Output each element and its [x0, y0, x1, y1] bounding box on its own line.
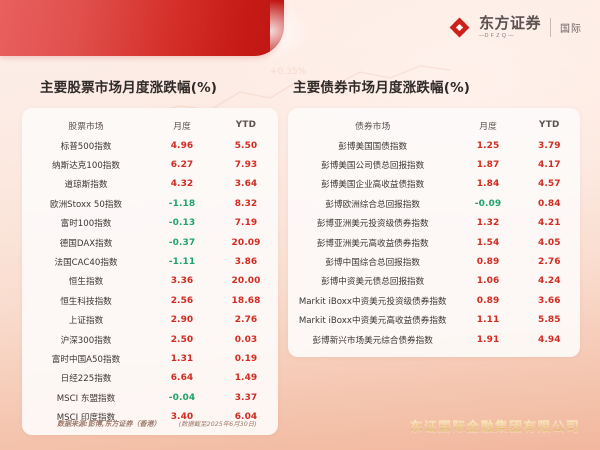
equity-monthly-value: -0.37	[150, 233, 214, 252]
bond-ytd-value: 4.57	[519, 175, 580, 194]
equity-monthly-value: 1.31	[150, 349, 214, 368]
bond-header-row: 债券市场 月度 YTD	[288, 114, 580, 136]
table-row: 标普500指数4.965.50	[22, 136, 278, 155]
equity-table: 股票市场 月度 YTD 标普500指数4.965.50纳斯达克100指数6.27…	[22, 114, 278, 427]
bond-market-name: 彭博欧洲综合总回报指数	[288, 194, 457, 213]
equity-market-name: 上证指数	[22, 311, 150, 330]
equity-monthly-value: 4.32	[150, 175, 214, 194]
equity-monthly-value: 2.90	[150, 311, 214, 330]
bond-monthly-value: 1.91	[457, 330, 518, 349]
table-row: 恒生科技指数2.5618.68	[22, 291, 278, 310]
equity-monthly-value: 6.27	[150, 155, 214, 174]
bond-ytd-value: 3.79	[519, 136, 580, 155]
bond-monthly-value: 1.54	[457, 233, 518, 252]
data-asof-text: (数据截至2025年6月30日)	[178, 419, 256, 428]
table-row: 彭博新兴市场美元综合债券指数1.914.94	[288, 330, 580, 349]
equity-table-card: 股票市场 月度 YTD 标普500指数4.965.50纳斯达克100指数6.27…	[22, 108, 278, 435]
equity-table-body: 标普500指数4.965.50纳斯达克100指数6.277.93道琼斯指数4.3…	[22, 136, 278, 427]
equity-monthly-value: -0.04	[150, 388, 214, 407]
equity-market-name: MSCI 东盟指数	[22, 388, 150, 407]
equity-ytd-value: 3.64	[214, 175, 278, 194]
bond-ytd-value: 0.84	[519, 194, 580, 213]
table-row: 日经225指数6.641.49	[22, 369, 278, 388]
equity-col-ytd: YTD	[214, 114, 278, 136]
bond-monthly-value: 1.25	[457, 136, 518, 155]
equity-monthly-value: 2.56	[150, 291, 214, 310]
equity-ytd-value: 7.93	[214, 155, 278, 174]
equity-ytd-value: 0.03	[214, 330, 278, 349]
bond-market-name: 彭博美国企业高收益债指数	[288, 175, 457, 194]
brand-name-en: DFZQ	[479, 33, 514, 39]
bond-market-name: 彭博美国公司债总回报指数	[288, 155, 457, 174]
brand-text: 东方证券 DFZQ	[479, 16, 541, 39]
equity-monthly-value: 2.50	[150, 330, 214, 349]
company-name: 东证国际金融集团有限公司	[410, 416, 580, 435]
equity-ytd-value: 1.49	[214, 369, 278, 388]
table-row: MSCI 东盟指数-0.043.37	[22, 388, 278, 407]
bond-col-ytd: YTD	[519, 114, 580, 136]
equity-header-row: 股票市场 月度 YTD	[22, 114, 278, 136]
table-row: 富时100指数-0.137.19	[22, 214, 278, 233]
equity-ytd-value: 3.37	[214, 388, 278, 407]
table-row: 彭博美国公司债总回报指数1.874.17	[288, 155, 580, 174]
equity-monthly-value: 3.36	[150, 272, 214, 291]
bond-monthly-value: 0.89	[457, 291, 518, 310]
table-row: 法国CAC40指数-1.113.86	[22, 252, 278, 271]
equity-market-name: 道琼斯指数	[22, 175, 150, 194]
equity-market-name: 恒生科技指数	[22, 291, 150, 310]
bond-monthly-value: 1.87	[457, 155, 518, 174]
equity-market-name: 日经225指数	[22, 369, 150, 388]
table-row: 彭博美国企业高收益债指数1.844.57	[288, 175, 580, 194]
bond-monthly-value: 0.89	[457, 252, 518, 271]
equity-market-name: 标普500指数	[22, 136, 150, 155]
equity-col-market: 股票市场	[22, 114, 150, 136]
equity-col-monthly: 月度	[150, 114, 214, 136]
bond-market-name: 彭博新兴市场美元综合债券指数	[288, 330, 457, 349]
table-row: 道琼斯指数4.323.64	[22, 175, 278, 194]
equity-monthly-value: 6.64	[150, 369, 214, 388]
bond-ytd-value: 4.05	[519, 233, 580, 252]
table-row: 彭博亚洲美元高收益债券指数1.544.05	[288, 233, 580, 252]
table-row: 沪深300指数2.500.03	[22, 330, 278, 349]
bond-market-name: 彭博亚洲美元投资级债券指数	[288, 214, 457, 233]
table-row: Markit iBoxx中资美元高收益债券指数1.115.85	[288, 311, 580, 330]
bond-table-body: 彭博美国国债指数1.253.79彭博美国公司债总回报指数1.874.17彭博美国…	[288, 136, 580, 349]
bond-monthly-value: 1.06	[457, 272, 518, 291]
table-row: 纳斯达克100指数6.277.93	[22, 155, 278, 174]
bond-ytd-value: 3.66	[519, 291, 580, 310]
bond-section-title: 主要债券市场月度涨跌幅(%)	[293, 76, 470, 96]
table-row: 彭博美国国债指数1.253.79	[288, 136, 580, 155]
equity-market-name: 德国DAX指数	[22, 233, 150, 252]
brand-sub-label: 国际	[560, 20, 582, 35]
table-row: 彭博欧洲综合总回报指数-0.090.84	[288, 194, 580, 213]
equity-ytd-value: 5.50	[214, 136, 278, 155]
bond-col-monthly: 月度	[457, 114, 518, 136]
equity-ytd-value: 0.19	[214, 349, 278, 368]
equity-ytd-value: 20.00	[214, 272, 278, 291]
equity-market-name: 欧洲Stoxx 50指数	[22, 194, 150, 213]
bond-market-name: 彭博亚洲美元高收益债券指数	[288, 233, 457, 252]
table-row: 富时中国A50指数1.310.19	[22, 349, 278, 368]
bond-table: 债券市场 月度 YTD 彭博美国国债指数1.253.79彭博美国公司债总回报指数…	[288, 114, 580, 349]
equity-market-name: 富时中国A50指数	[22, 349, 150, 368]
table-row: 欧洲Stoxx 50指数-1.188.32	[22, 194, 278, 213]
bond-monthly-value: -0.09	[457, 194, 518, 213]
equity-ytd-value: 2.76	[214, 311, 278, 330]
equity-monthly-value: -1.18	[150, 194, 214, 213]
bond-table-card: 债券市场 月度 YTD 彭博美国国债指数1.253.79彭博美国公司债总回报指数…	[288, 108, 580, 357]
data-source-text: 数据来源:彭博,东方证券（香港）	[57, 419, 160, 429]
poster-canvas: +0.35% 东方证券 DFZQ 国际	[0, 0, 600, 450]
equity-market-name: 纳斯达克100指数	[22, 155, 150, 174]
equity-ytd-value: 7.19	[214, 214, 278, 233]
table-row: 彭博亚洲美元投资级债券指数1.324.21	[288, 214, 580, 233]
bond-monthly-value: 1.11	[457, 311, 518, 330]
equity-market-name: 富时100指数	[22, 214, 150, 233]
bond-ytd-value: 4.24	[519, 272, 580, 291]
bond-market-name: 彭博中国综合总回报指数	[288, 252, 457, 271]
footnote: 数据来源:彭博,东方证券（香港） (数据截至2025年6月30日)	[57, 419, 257, 429]
bond-ytd-value: 4.17	[519, 155, 580, 174]
brand-name-cn: 东方证券	[479, 16, 541, 32]
bond-monthly-value: 1.32	[457, 214, 518, 233]
equity-market-name: 恒生指数	[22, 272, 150, 291]
bond-ytd-value: 2.76	[519, 252, 580, 271]
equity-ytd-value: 3.86	[214, 252, 278, 271]
equity-market-name: 法国CAC40指数	[22, 252, 150, 271]
equity-monthly-value: -0.13	[150, 214, 214, 233]
bond-ytd-value: 5.85	[519, 311, 580, 330]
brand-divider	[550, 18, 551, 37]
bond-monthly-value: 1.84	[457, 175, 518, 194]
equity-section-title: 主要股票市场月度涨跌幅(%)	[40, 76, 217, 96]
equity-ytd-value: 20.09	[214, 233, 278, 252]
bond-market-name: 彭博中资美元债总回报指数	[288, 272, 457, 291]
table-row: 恒生指数3.3620.00	[22, 272, 278, 291]
equity-market-name: 沪深300指数	[22, 330, 150, 349]
table-row: 彭博中资美元债总回报指数1.064.24	[288, 272, 580, 291]
bond-table-head: 债券市场 月度 YTD	[288, 114, 580, 136]
equity-monthly-value: -1.11	[150, 252, 214, 271]
table-row: 德国DAX指数-0.3720.09	[22, 233, 278, 252]
table-row: Markit iBoxx中资美元投资级债券指数0.893.66	[288, 291, 580, 310]
brand-logo: 东方证券 DFZQ 国际	[449, 16, 582, 39]
table-row: 彭博中国综合总回报指数0.892.76	[288, 252, 580, 271]
header-banner	[0, 0, 284, 56]
equity-ytd-value: 18.68	[214, 291, 278, 310]
section-titles: 主要股票市场月度涨跌幅(%) 主要债券市场月度涨跌幅(%)	[0, 76, 600, 98]
equity-ytd-value: 8.32	[214, 194, 278, 213]
bond-ytd-value: 4.94	[519, 330, 580, 349]
table-row: 上证指数2.902.76	[22, 311, 278, 330]
equity-table-head: 股票市场 月度 YTD	[22, 114, 278, 136]
bond-market-name: Markit iBoxx中资美元高收益债券指数	[288, 311, 457, 330]
bond-market-name: Markit iBoxx中资美元投资级债券指数	[288, 291, 457, 310]
bond-col-market: 债券市场	[288, 114, 457, 136]
bond-ytd-value: 4.21	[519, 214, 580, 233]
equity-monthly-value: 4.96	[150, 136, 214, 155]
bond-market-name: 彭博美国国债指数	[288, 136, 457, 155]
dfzq-diamond-logo-icon	[449, 17, 470, 38]
